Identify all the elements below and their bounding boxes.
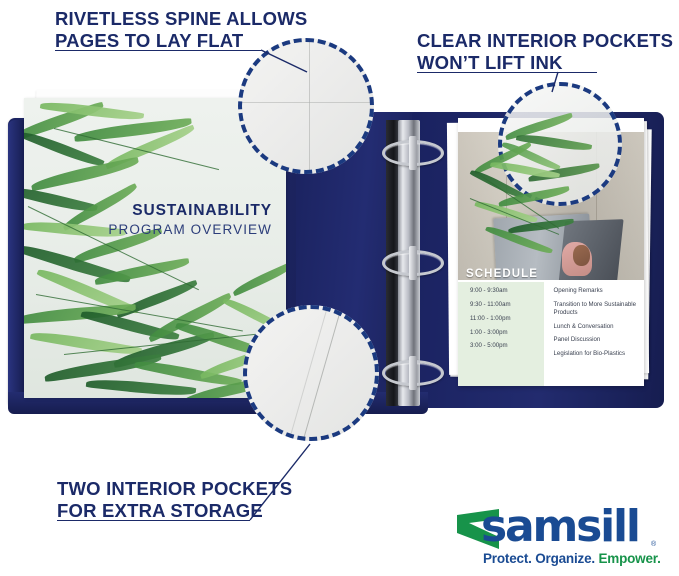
schedule-row-event: Legislation for Bio-Plastics bbox=[544, 350, 644, 358]
callout-two-pockets-rule bbox=[57, 520, 250, 521]
left-document-title: SUSTAINABILITY bbox=[108, 202, 272, 220]
schedule-row-event: Transition to More Sustainable Products bbox=[544, 301, 644, 317]
schedule-event-column: Opening Remarks Transition to More Susta… bbox=[544, 282, 644, 386]
logo-registered-mark: ® bbox=[651, 541, 656, 548]
binder-ring-bottom bbox=[382, 360, 444, 386]
zoom-circle-pocket bbox=[243, 305, 379, 441]
logo-wordmark: samsill bbox=[481, 505, 639, 549]
schedule-row-event: Opening Remarks bbox=[544, 287, 644, 295]
right-document-foliage bbox=[468, 144, 588, 264]
callout-two-pockets-leader bbox=[246, 440, 336, 524]
logo-tagline-part1: Protect. Organize. bbox=[483, 551, 598, 566]
schedule-row-time: 11:00 - 1:00pm bbox=[458, 315, 544, 323]
schedule-table: 9:00 - 9:30am 9:30 - 11:00am 11:00 - 1:0… bbox=[458, 282, 644, 386]
schedule-row-time: 3:00 - 5:00pm bbox=[458, 342, 544, 350]
callout-rivetless-spine-leader bbox=[255, 40, 325, 80]
binder-ring-top bbox=[382, 140, 444, 166]
logo-tagline-part2: Empower. bbox=[598, 551, 660, 566]
schedule-row-time: 1:00 - 3:00pm bbox=[458, 329, 544, 337]
schedule-row-time: 9:00 - 9:30am bbox=[458, 287, 544, 295]
callout-clear-pockets-leader bbox=[540, 70, 580, 100]
callout-rivetless-spine-rule bbox=[55, 50, 261, 51]
left-document-heading: SUSTAINABILITY PROGRAM OVERVIEW bbox=[108, 202, 272, 238]
schedule-label: SCHEDULE bbox=[458, 268, 538, 280]
schedule-band: SCHEDULE bbox=[458, 266, 644, 282]
schedule-row-time: 9:30 - 11:00am bbox=[458, 301, 544, 309]
binder-left-edge bbox=[8, 120, 24, 412]
binder-ring-middle bbox=[382, 250, 444, 276]
left-document-subtitle: PROGRAM OVERVIEW bbox=[108, 222, 272, 238]
schedule-row-event: Lunch & Conversation bbox=[544, 323, 644, 331]
samsill-logo: samsill ® Protect. Organize. Empower. bbox=[455, 505, 670, 567]
schedule-row-event: Panel Discussion bbox=[544, 336, 644, 344]
logo-tagline: Protect. Organize. Empower. bbox=[483, 551, 661, 566]
schedule-time-column: 9:00 - 9:30am 9:30 - 11:00am 11:00 - 1:0… bbox=[458, 282, 544, 386]
callout-clear-pockets-text: CLEAR INTERIOR POCKETS WON’T LIFT INK bbox=[417, 30, 673, 74]
product-feature-image: SUSTAINABILITY PROGRAM OVERVIEW SUSTAINA… bbox=[0, 0, 679, 576]
